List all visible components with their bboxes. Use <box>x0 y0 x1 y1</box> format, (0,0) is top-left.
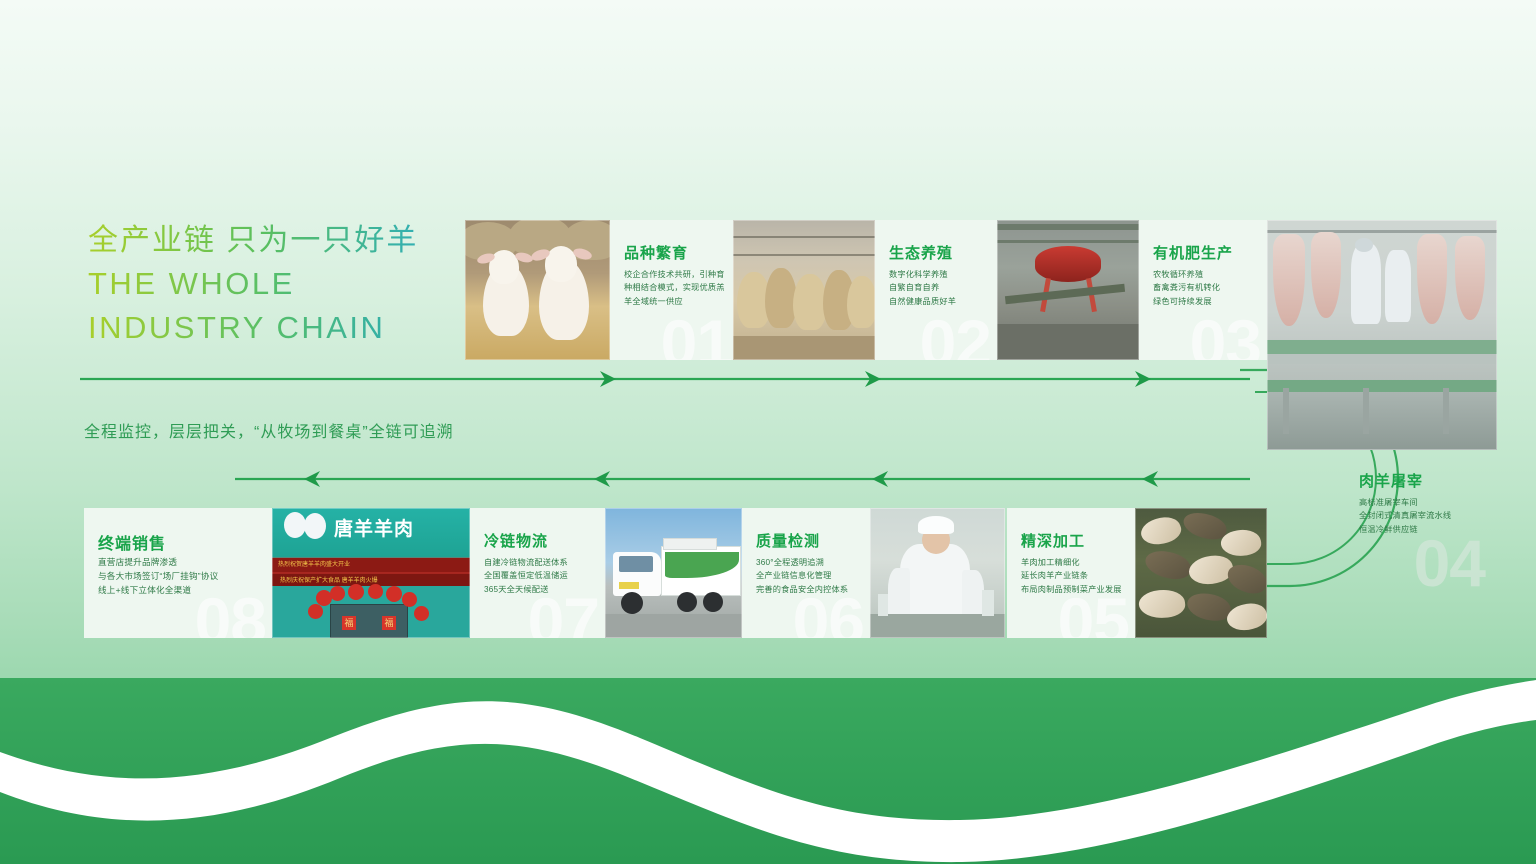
stage-title-07: 冷链物流 <box>484 530 548 551</box>
stage-number-03: 03 <box>1190 310 1261 360</box>
stage-number-05: 05 <box>1058 588 1129 638</box>
page-title-en-line1: THE WHOLE <box>88 264 488 304</box>
stage-photo-04 <box>1267 220 1497 450</box>
stage-lines-03: 农牧循环养殖 畜禽粪污有机转化 绿色可持续发展 <box>1153 268 1259 308</box>
stage-title-02: 生态养殖 <box>889 242 953 263</box>
stage-photo-03 <box>997 220 1139 360</box>
stage-number-01: 01 <box>661 310 732 360</box>
page-title-en-line2: INDUSTRY CHAIN <box>88 308 488 348</box>
stage-card-07[interactable]: 冷链物流 自建冷链物流配送体系 全国覆盖恒定低温储运 365天全天候配送 07 <box>470 508 605 638</box>
page-title-cn: 全产业链 只为一只好羊 <box>88 222 488 260</box>
stage-photo-05 <box>1135 508 1267 638</box>
stage-photo-07 <box>605 508 742 638</box>
stage-card-08[interactable]: 终端销售 直营店提升品牌渗透 与各大市场签订“场厂挂钩”协议 线上+线下立体化全… <box>84 508 272 638</box>
stage-lines-02: 数字化科学养殖 自繁自育自养 自然健康品质好羊 <box>889 268 989 308</box>
stage-number-07: 07 <box>528 588 599 638</box>
stage-card-05[interactable]: 精深加工 羊肉加工精细化 延长肉羊产业链条 布局肉制品预制菜产业发展 05 <box>1007 508 1135 638</box>
stage-photo-08: 唐羊羊肉 热烈祝贺唐羊羊肉盛大开业 热烈庆祝保产扩大食品 唐羊羊肉火爆 福 福 <box>272 508 470 638</box>
stage-title-03: 有机肥生产 <box>1153 242 1233 263</box>
footer-wave-decoration <box>0 634 1536 864</box>
stage-number-06: 06 <box>793 588 864 638</box>
stage-title-06: 质量检测 <box>756 530 820 551</box>
stage-title-05: 精深加工 <box>1021 530 1085 551</box>
stage-title-01: 品种繁育 <box>624 242 688 263</box>
stage-card-03[interactable]: 有机肥生产 农牧循环养殖 畜禽粪污有机转化 绿色可持续发展 03 <box>1139 220 1267 360</box>
stage-card-02[interactable]: 生态养殖 数字化科学养殖 自繁自育自养 自然健康品质好羊 02 <box>875 220 997 360</box>
stage-number-02: 02 <box>920 310 991 360</box>
stage-number-04: 04 <box>1414 530 1485 588</box>
stage-title-04: 肉羊屠宰 <box>1359 470 1423 491</box>
stage-card-01[interactable]: 品种繁育 校企合作技术共研，引种育 种相结合模式，实现优质羔 羊全域统一供应 0… <box>610 220 738 360</box>
stage-photo-01 <box>465 220 610 360</box>
stage-number-08: 08 <box>195 588 266 638</box>
stage-lines-01: 校企合作技术共研，引种育 种相结合模式，实现优质羔 羊全域统一供应 <box>624 268 730 308</box>
stage-card-04[interactable]: 肉羊屠宰 高标准屠宰车间 全封闭式清真屠宰流水线 恒温冷鲜供应链 04 <box>1345 448 1525 588</box>
stage-photo-06 <box>870 508 1005 638</box>
traceability-note: 全程监控，层层把关，“从牧场到餐桌”全链可追溯 <box>84 418 454 442</box>
stage-card-06[interactable]: 质量检测 360°全程透明追溯 全产业链信息化管理 完善的食品安全内控体系 06 <box>742 508 870 638</box>
stage-title-08: 终端销售 <box>98 530 166 554</box>
stage-photo-02 <box>733 220 875 360</box>
infographic-canvas: 全产业链 只为一只好羊 THE WHOLE INDUSTRY CHAIN 全程监… <box>0 0 1536 864</box>
page-title-block: 全产业链 只为一只好羊 THE WHOLE INDUSTRY CHAIN <box>88 222 488 348</box>
